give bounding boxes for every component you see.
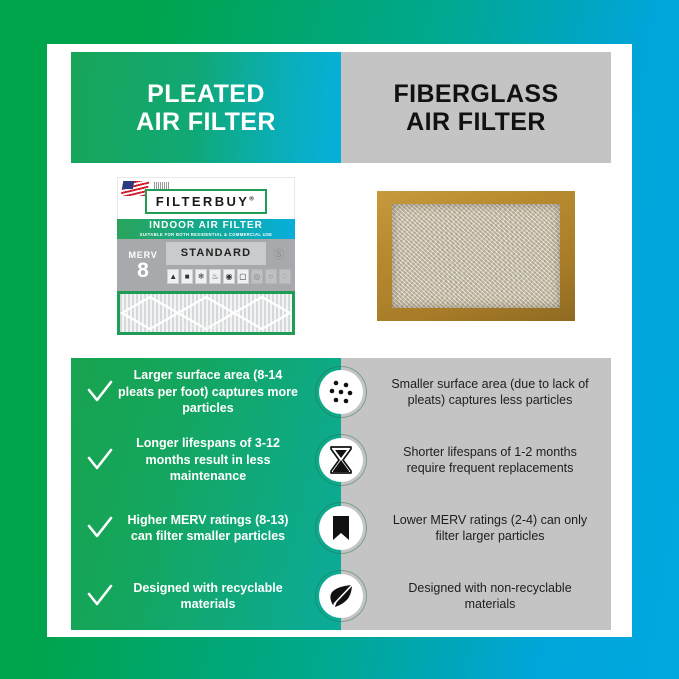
merv-value: 8 (137, 260, 149, 281)
table-row: Longer lifespans of 3-12 months result i… (71, 426, 611, 494)
pleated-media-frame: FILTERBUY (117, 291, 295, 335)
leaf-recycle-icon (315, 570, 367, 622)
icon-disc (319, 574, 363, 618)
checkmark-icon (83, 584, 117, 608)
row-right-text: Lower MERV ratings (2-4) can only filter… (341, 512, 611, 545)
header-fiberglass: FIBERGLASS AIR FILTER (341, 52, 611, 163)
lint-icon: ■ (181, 269, 193, 284)
bacteria-icon: ◎ (251, 269, 263, 284)
grade-label: STANDARD (166, 242, 266, 265)
header-pleated-line1: PLEATED (147, 80, 265, 108)
icon-disc (319, 506, 363, 550)
indoor-air-filter-band: INDOOR AIR FILTER SUITABLE FOR BOTH RESI… (117, 219, 295, 239)
smoke-icon: ▢ (237, 269, 249, 284)
filterbuy-logo-text: FILTERBUY (156, 194, 250, 209)
header-fiberglass-line2: AIR FILTER (406, 108, 546, 136)
row-right-text: Designed with non-recyclable materials (341, 580, 611, 613)
comparison-table: Larger surface area (8-14 pleats per foo… (71, 358, 611, 630)
table-row: Larger surface area (8-14 pleats per foo… (71, 358, 611, 426)
band-sub-text: SUITABLE FOR BOTH RESIDENTIAL & COMMERCI… (140, 233, 273, 237)
header-fiberglass-line1: FIBERGLASS (393, 80, 558, 108)
row-right-text: Shorter lifespans of 1-2 months require … (341, 444, 611, 477)
pleated-product-cell: FILTERBUY® INDOOR AIR FILTER SUITABLE FO… (71, 163, 341, 349)
spec-right: STANDARD Ⓢ ▲ ■ ❄ ♨ ◉ ▢ ◎ ○ ♢ (166, 242, 292, 288)
pleated-media: FILTERBUY (120, 294, 292, 332)
pleated-filter-box-image: FILTERBUY® INDOOR AIR FILTER SUITABLE FO… (117, 177, 295, 335)
hourglass-icon (315, 434, 367, 486)
table-row: Higher MERV ratings (8-13) can filter sm… (71, 494, 611, 562)
header-fiberglass-title: FIBERGLASS AIR FILTER (393, 80, 558, 136)
odor-icon: ♢ (279, 269, 291, 284)
header-pleated-line2: AIR FILTER (136, 108, 276, 136)
merv-label: MERV (128, 250, 157, 260)
infographic-root: PLEATED AIR FILTER FIBERGLASS AIR FILTER… (0, 0, 679, 679)
checkmark-icon (83, 448, 117, 472)
pleated-box-top: FILTERBUY® (117, 177, 295, 219)
particles-icon (315, 366, 367, 418)
fiberglass-media (392, 204, 560, 308)
products-row: FILTERBUY® INDOOR AIR FILTER SUITABLE FO… (71, 163, 611, 349)
pollen-icon: ❄ (195, 269, 207, 284)
certification-seal-icon: Ⓢ (266, 246, 292, 262)
virus-icon: ○ (265, 269, 277, 284)
row-right-text: Smaller surface area (due to lack of ple… (341, 376, 611, 409)
merv-block: MERV 8 (120, 242, 166, 288)
pleated-footer-brand: FILTERBUY (120, 325, 292, 331)
header-pleated-title: PLEATED AIR FILTER (136, 80, 276, 136)
table-row: Designed with recyclable materials Desig… (71, 562, 611, 630)
icon-disc (319, 370, 363, 414)
pleated-box-spec-area: MERV 8 STANDARD Ⓢ ▲ ■ ❄ ♨ ◉ (117, 239, 295, 291)
feature-icon-strip: ▲ ■ ❄ ♨ ◉ ▢ ◎ ○ ♢ (166, 265, 292, 288)
bookmark-icon (315, 502, 367, 554)
pet-dander-icon: ◉ (223, 269, 235, 284)
fiberglass-product-cell (341, 163, 611, 349)
row-left-cell: Higher MERV ratings (8-13) can filter sm… (71, 512, 341, 545)
grade-row: STANDARD Ⓢ (166, 242, 292, 265)
band-main-text: INDOOR AIR FILTER (149, 221, 263, 231)
row-left-text: Longer lifespans of 3-12 months result i… (117, 435, 299, 485)
row-left-text: Larger surface area (8-14 pleats per foo… (117, 367, 299, 417)
fiberglass-filter-image (377, 191, 575, 321)
row-left-text: Higher MERV ratings (8-13) can filter sm… (117, 512, 299, 545)
checkmark-icon (83, 516, 117, 540)
row-left-cell: Larger surface area (8-14 pleats per foo… (71, 367, 341, 417)
row-left-cell: Designed with recyclable materials (71, 580, 341, 613)
row-left-cell: Longer lifespans of 3-12 months result i… (71, 435, 341, 485)
header-row: PLEATED AIR FILTER FIBERGLASS AIR FILTER (71, 52, 611, 163)
barcode-icon (154, 182, 170, 189)
mold-icon: ♨ (209, 269, 221, 284)
filterbuy-logo: FILTERBUY® (145, 189, 267, 214)
icon-disc (319, 438, 363, 482)
dust-icon: ▲ (167, 269, 179, 284)
checkmark-icon (83, 380, 117, 404)
comparison-rows: Larger surface area (8-14 pleats per foo… (71, 358, 611, 630)
registered-mark: ® (249, 197, 256, 203)
header-pleated: PLEATED AIR FILTER (71, 52, 341, 163)
row-left-text: Designed with recyclable materials (117, 580, 299, 613)
